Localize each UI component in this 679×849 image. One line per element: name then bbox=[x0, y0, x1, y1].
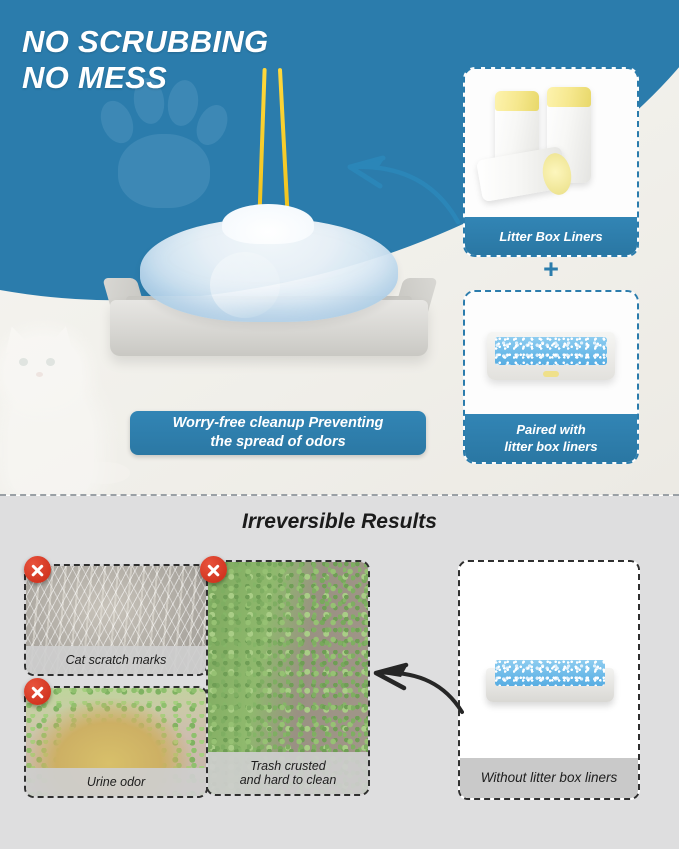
result-card-crusted-caption: Trash crusted and hard to clean bbox=[208, 752, 368, 794]
hero-caption: Worry-free cleanup Preventing the spread… bbox=[130, 411, 426, 455]
product-card-liners-label: Litter Box Liners bbox=[465, 217, 637, 255]
page-title: NO SCRUBBING NO MESS bbox=[22, 24, 268, 96]
result-card-without-liners[interactable]: Without litter box liners bbox=[458, 560, 640, 800]
product-card-paired[interactable]: Paired with litter box liners bbox=[463, 290, 639, 464]
top-section: NO SCRUBBING NO MESS bbox=[0, 0, 679, 495]
results-title: Irreversible Results bbox=[0, 510, 679, 534]
product-card-liners[interactable]: Litter Box Liners bbox=[463, 67, 639, 257]
liner-rolls-icon bbox=[465, 69, 637, 217]
red-x-badge-icon bbox=[24, 556, 51, 583]
red-x-badge-icon bbox=[24, 678, 51, 705]
product-card-paired-label: Paired with litter box liners bbox=[465, 414, 637, 462]
headline-line-2: NO MESS bbox=[22, 60, 268, 96]
curved-arrow-left-icon bbox=[334, 150, 460, 226]
red-x-badge-icon bbox=[200, 556, 227, 583]
result-card-scratch-caption: Cat scratch marks bbox=[26, 646, 206, 674]
hero-caption-line-1: Worry-free cleanup Preventing bbox=[173, 415, 384, 431]
plus-icon: + bbox=[540, 258, 562, 280]
result-card-urine-caption: Urine odor bbox=[26, 768, 206, 796]
result-card-crusted[interactable]: Trash crusted and hard to clean bbox=[206, 560, 370, 796]
litter-box-crystals-icon bbox=[465, 292, 637, 414]
liner-bag-neck bbox=[222, 204, 314, 244]
result-card-scratch[interactable]: Cat scratch marks bbox=[24, 564, 208, 676]
result-card-urine[interactable]: Urine odor bbox=[24, 686, 208, 798]
infographic-page: NO SCRUBBING NO MESS bbox=[0, 0, 679, 849]
results-section: Irreversible Results Cat scratch marks T… bbox=[0, 496, 679, 849]
result-card-without-liners-caption: Without litter box liners bbox=[460, 758, 638, 798]
headline-line-1: NO SCRUBBING bbox=[22, 24, 268, 60]
hero-caption-line-2: the spread of odors bbox=[210, 434, 345, 450]
curved-arrow-left-dark-icon bbox=[368, 660, 464, 716]
